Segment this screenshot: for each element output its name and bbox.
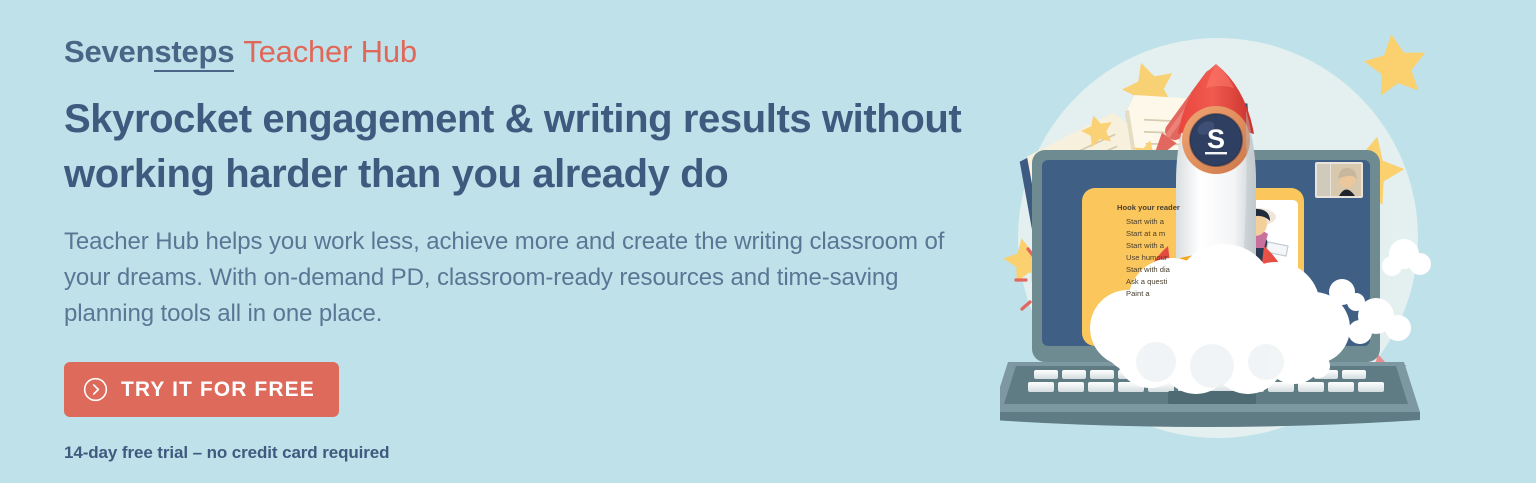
logo-product-name: Teacher Hub: [243, 34, 417, 69]
banner-content: SevenstepsTeacher Hub Skyrocket engageme…: [64, 34, 994, 463]
rocket-badge-letter: S: [1207, 124, 1225, 154]
circle-chevron-right-icon: [83, 377, 108, 402]
page-title: Skyrocket engagement & writing results w…: [64, 92, 994, 202]
free-trial-note: 14-day free trial – no credit card requi…: [64, 443, 994, 463]
hero-description: Teacher Hub helps you work less, achieve…: [64, 224, 974, 332]
try-it-for-free-button[interactable]: TRY IT FOR FREE: [64, 362, 339, 417]
logo-word-seven: Seven: [64, 34, 154, 69]
illustration-canvas: S: [1000, 10, 1440, 440]
video-thumbnail: [1315, 162, 1363, 198]
cta-button-label: TRY IT FOR FREE: [121, 378, 315, 402]
logo-word-steps: steps: [154, 34, 234, 72]
sevensteps-teacher-hub-logo[interactable]: SevenstepsTeacher Hub: [64, 34, 994, 70]
rocket-illustration: S: [1000, 10, 1440, 440]
promo-banner: SevenstepsTeacher Hub Skyrocket engageme…: [0, 0, 1536, 483]
